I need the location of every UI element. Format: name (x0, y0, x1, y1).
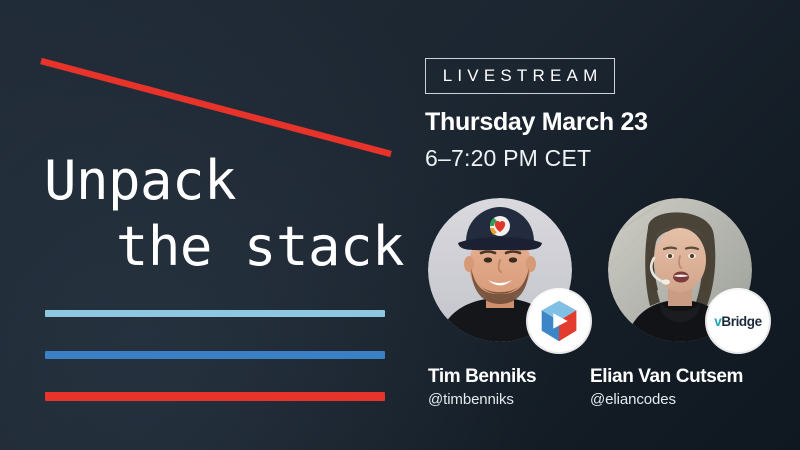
light-blue-rule-icon (45, 310, 385, 317)
speaker-handle: @timbenniks (428, 391, 514, 408)
red-diagonal-line-icon (38, 58, 394, 158)
hexagon-play-logo (528, 290, 590, 352)
livestream-poster: Unpack the stack LIVESTREAM Thursday Mar… (0, 0, 800, 450)
page-title: Unpack the stack (44, 148, 404, 280)
speaker-name: Elian Van Cutsem (590, 366, 743, 388)
blue-rule-icon (45, 351, 385, 359)
vbridge-logo-text: vBridge (714, 314, 761, 329)
headline-line-1: Unpack (44, 148, 404, 214)
livestream-badge-label: LIVESTREAM (438, 66, 603, 86)
speaker-name: Tim Benniks (428, 366, 536, 388)
event-date: Thursday March 23 (425, 108, 648, 137)
hexagon-play-logo-icon (536, 298, 582, 344)
right-panel: LIVESTREAM Thursday March 23 6–7:20 PM C… (410, 0, 800, 450)
left-panel: Unpack the stack (0, 0, 410, 450)
livestream-badge: LIVESTREAM (425, 58, 615, 94)
headline-line-2: the stack (44, 214, 404, 280)
red-rule-icon (45, 392, 385, 401)
vbridge-logo: vBridge (707, 290, 769, 352)
event-time: 6–7:20 PM CET (425, 145, 591, 172)
vbridge-rest: Bridge (721, 314, 761, 329)
speaker-handle: @eliancodes (590, 391, 676, 408)
